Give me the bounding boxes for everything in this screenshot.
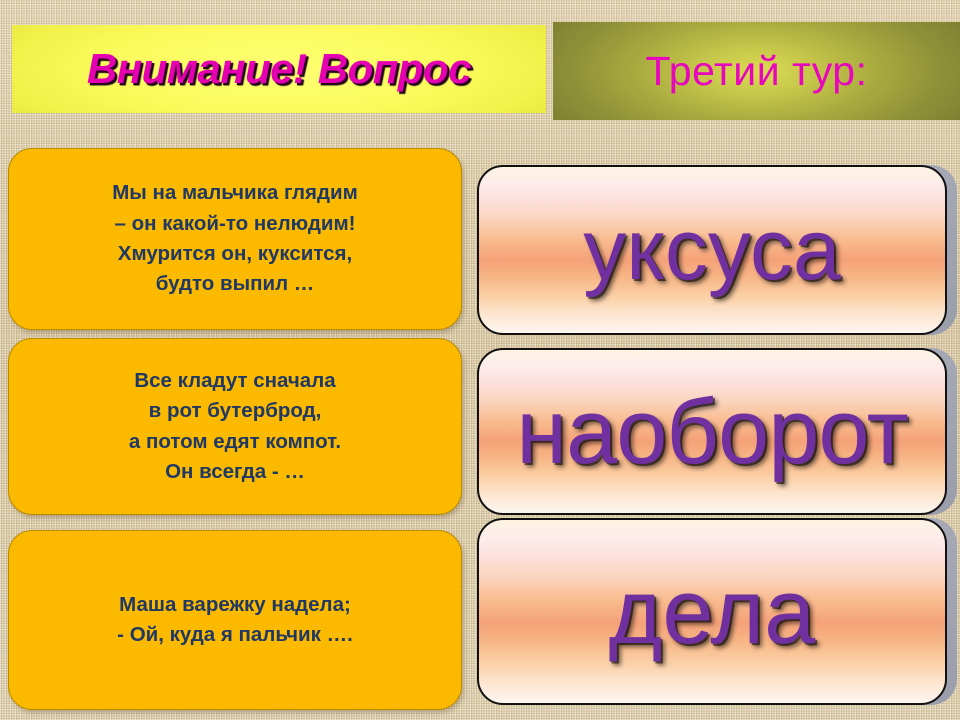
slide-canvas: Внимание! Вопрос Третий тур: Мы на мальч… bbox=[0, 0, 960, 720]
answer-text-2: наоборот bbox=[516, 386, 907, 478]
riddle-card-1[interactable]: Мы на мальчика глядим – он какой-то нелю… bbox=[8, 148, 462, 330]
answer-text-3: дела bbox=[609, 566, 816, 658]
round-title-text: Третий тур: bbox=[646, 48, 868, 95]
riddle-text-2: Все кладут сначала в рот бутерброд, а по… bbox=[115, 366, 355, 487]
riddle-text-3: Маша варежку надела; - Ой, куда я пальчи… bbox=[103, 590, 367, 651]
riddle-text-1: Мы на мальчика глядим – он какой-то нелю… bbox=[98, 178, 372, 299]
riddle-card-3[interactable]: Маша варежку надела; - Ой, куда я пальчи… bbox=[8, 530, 462, 710]
riddle-card-2[interactable]: Все кладут сначала в рот бутерброд, а по… bbox=[8, 338, 462, 515]
answer-card-3[interactable]: дела bbox=[477, 518, 947, 705]
round-title-banner: Третий тур: bbox=[553, 22, 960, 120]
answer-card-1[interactable]: уксуса bbox=[477, 165, 947, 335]
attention-question-title: Внимание! Вопрос bbox=[87, 45, 471, 93]
answer-text-1: уксуса bbox=[583, 207, 840, 293]
attention-question-banner: Внимание! Вопрос bbox=[12, 25, 546, 113]
answer-card-2[interactable]: наоборот bbox=[477, 348, 947, 515]
